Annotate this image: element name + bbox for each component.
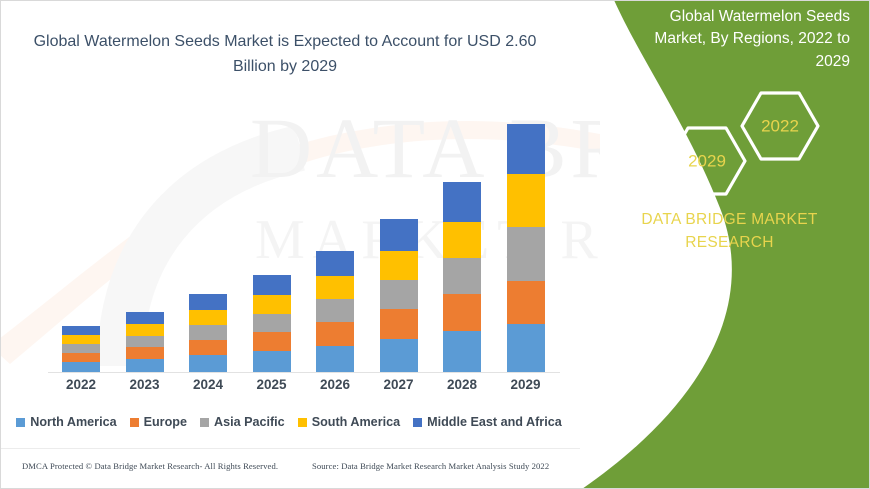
- bar-segment: [253, 351, 291, 372]
- bar-segment: [62, 353, 100, 362]
- bar-segment: [380, 219, 418, 251]
- footer-source: Source: Data Bridge Market Research Mark…: [312, 461, 549, 471]
- bar-segment: [380, 309, 418, 339]
- chart-plot-area: [30, 96, 560, 373]
- bar-segment: [380, 339, 418, 372]
- bar-segment: [253, 332, 291, 351]
- bar-2024[interactable]: [189, 294, 227, 372]
- bar-segment: [507, 324, 545, 372]
- bar-segment: [62, 344, 100, 353]
- x-axis-label-2026: 2026: [305, 377, 365, 392]
- bar-segment: [126, 312, 164, 324]
- bar-segment: [253, 314, 291, 332]
- hexagon-2029-label: 2029: [688, 151, 726, 170]
- bar-segment: [62, 335, 100, 344]
- bar-segment: [443, 222, 481, 258]
- brand-name-line-2: RESEARCH: [602, 231, 857, 254]
- legend-label: Europe: [144, 415, 187, 429]
- bar-2022[interactable]: [62, 326, 100, 372]
- bar-segment: [316, 299, 354, 322]
- legend-item[interactable]: Asia Pacific: [200, 415, 285, 429]
- bar-segment: [443, 182, 481, 222]
- legend-swatch-icon: [16, 418, 25, 427]
- bar-segment: [126, 359, 164, 372]
- bar-segment: [62, 362, 100, 372]
- hexagon-2029: 2029: [669, 128, 745, 194]
- bar-2029[interactable]: [507, 124, 545, 372]
- bar-segment: [316, 251, 354, 276]
- bar-segment: [443, 331, 481, 372]
- page-title: Global Watermelon Seeds Market is Expect…: [30, 30, 540, 80]
- chart-legend: North AmericaEuropeAsia PacificSouth Ame…: [0, 415, 578, 429]
- bar-segment: [189, 310, 227, 325]
- x-axis-label-2024: 2024: [178, 377, 238, 392]
- bar-segment: [316, 276, 354, 299]
- bar-chart: 20222023202420252026202720282029: [0, 96, 580, 396]
- panel-title: Global Watermelon Seeds Market, By Regio…: [630, 6, 850, 73]
- x-axis-labels: 20222023202420252026202720282029: [30, 377, 560, 397]
- legend-swatch-icon: [200, 418, 209, 427]
- legend-item[interactable]: South America: [298, 415, 400, 429]
- bar-segment: [380, 280, 418, 309]
- bar-segment: [316, 322, 354, 346]
- bar-segment: [189, 340, 227, 355]
- bar-segment: [253, 295, 291, 314]
- x-axis-label-2029: 2029: [496, 377, 556, 392]
- bar-segment: [507, 174, 545, 227]
- legend-swatch-icon: [298, 418, 307, 427]
- legend-label: Middle East and Africa: [427, 415, 562, 429]
- legend-item[interactable]: Middle East and Africa: [413, 415, 562, 429]
- bar-segment: [507, 124, 545, 174]
- x-axis-label-2025: 2025: [242, 377, 302, 392]
- footer-divider: [0, 448, 580, 449]
- x-axis-label-2028: 2028: [432, 377, 492, 392]
- bar-2028[interactable]: [443, 182, 481, 372]
- bar-segment: [126, 324, 164, 336]
- legend-item[interactable]: North America: [16, 415, 116, 429]
- legend-label: Asia Pacific: [214, 415, 285, 429]
- bar-segment: [126, 336, 164, 347]
- legend-label: North America: [30, 415, 116, 429]
- bar-segment: [316, 346, 354, 372]
- bar-segment: [253, 275, 291, 295]
- bar-segment: [443, 294, 481, 331]
- bar-segment: [507, 227, 545, 281]
- infographic-root: DATA BRIDGE MARKET RESEARCH Global Water…: [0, 0, 870, 489]
- bar-2023[interactable]: [126, 312, 164, 372]
- footer-copyright: DMCA Protected © Data Bridge Market Rese…: [22, 461, 278, 471]
- x-axis-label-2022: 2022: [51, 377, 111, 392]
- x-axis-label-2023: 2023: [115, 377, 175, 392]
- hexagon-group: 2022 2029: [656, 88, 836, 203]
- bar-2026[interactable]: [316, 251, 354, 372]
- brand-panel: Global Watermelon Seeds Market, By Regio…: [560, 0, 870, 489]
- hexagon-2022: 2022: [742, 93, 818, 159]
- x-axis-line: [48, 372, 560, 373]
- bar-segment: [189, 355, 227, 372]
- legend-label: South America: [312, 415, 400, 429]
- bar-segment: [380, 251, 418, 280]
- bar-segment: [189, 294, 227, 310]
- legend-swatch-icon: [413, 418, 422, 427]
- brand-name: DATA BRIDGE MARKET RESEARCH: [602, 208, 857, 255]
- bar-2025[interactable]: [253, 275, 291, 372]
- legend-item[interactable]: Europe: [130, 415, 187, 429]
- bar-segment: [126, 347, 164, 359]
- bar-segment: [189, 325, 227, 340]
- bar-segment: [62, 326, 100, 335]
- legend-swatch-icon: [130, 418, 139, 427]
- hexagon-2022-label: 2022: [761, 116, 799, 135]
- bar-2027[interactable]: [380, 219, 418, 372]
- bar-segment: [443, 258, 481, 294]
- brand-name-line-1: DATA BRIDGE MARKET: [602, 208, 857, 231]
- bar-segment: [507, 281, 545, 324]
- x-axis-label-2027: 2027: [369, 377, 429, 392]
- hexagons-svg: 2022 2029: [656, 88, 836, 203]
